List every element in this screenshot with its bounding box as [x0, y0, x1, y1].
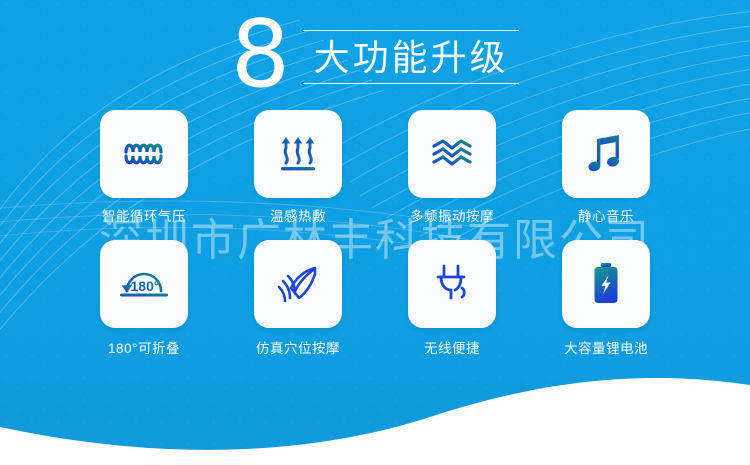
battery-icon: [591, 261, 621, 307]
feature-item-air-pressure[interactable]: 智能循环气压: [100, 110, 188, 226]
feature-card[interactable]: 180°: [100, 240, 188, 328]
feature-grid: 智能循环气压: [0, 110, 750, 358]
feature-item-vibration[interactable]: 多频振动按摩: [408, 110, 496, 226]
feature-card[interactable]: [408, 110, 496, 198]
title-rule-bottom: [303, 83, 519, 84]
vibration-waves-icon: [429, 137, 475, 171]
feature-row-top: 智能循环气压: [0, 110, 750, 226]
title-block: 大功能升级: [303, 30, 519, 85]
promo-banner: 8 大功能升级 深圳市广林丰科技有限公司: [0, 0, 750, 465]
feature-item-heating[interactable]: 温感热敷: [254, 110, 342, 226]
wireless-plug-icon: [431, 262, 473, 306]
fold-180-icon: 180°: [117, 265, 171, 303]
feature-row-bottom: 180° 180°可折叠: [0, 240, 750, 358]
feature-card[interactable]: [408, 240, 496, 328]
feature-item-fold[interactable]: 180° 180°可折叠: [100, 240, 188, 358]
feature-label: 无线便捷: [424, 340, 480, 358]
feature-label: 仿真穴位按摩: [256, 340, 340, 358]
feature-item-battery[interactable]: 大容量锂电池: [562, 240, 650, 358]
heating-arrows-icon: [277, 134, 319, 174]
feature-count-number: 8: [231, 8, 289, 101]
feature-label: 静心音乐: [578, 208, 634, 226]
feature-item-acupoint[interactable]: 仿真穴位按摩: [254, 240, 342, 358]
bottom-wave-divider: [0, 355, 750, 465]
title-rule-top: [303, 30, 519, 31]
feature-label: 温感热敷: [270, 208, 326, 226]
page-title: 大功能升级: [303, 37, 519, 79]
feature-label: 180°可折叠: [108, 340, 180, 358]
feature-card[interactable]: [562, 110, 650, 198]
air-wave-icon: [121, 137, 167, 171]
feature-label: 大容量锂电池: [564, 340, 648, 358]
feature-card[interactable]: [562, 240, 650, 328]
music-note-icon: [587, 133, 625, 175]
feature-card[interactable]: [100, 110, 188, 198]
feature-item-wireless[interactable]: 无线便捷: [408, 240, 496, 358]
feature-label: 多频振动按摩: [410, 208, 494, 226]
fold-angle-text: 180°: [131, 278, 160, 294]
feature-card[interactable]: [254, 240, 342, 328]
hand-massage-icon: [277, 262, 319, 306]
feature-label: 智能循环气压: [102, 208, 186, 226]
feature-card[interactable]: [254, 110, 342, 198]
feature-item-music[interactable]: 静心音乐: [562, 110, 650, 226]
header: 8 大功能升级: [0, 6, 750, 104]
